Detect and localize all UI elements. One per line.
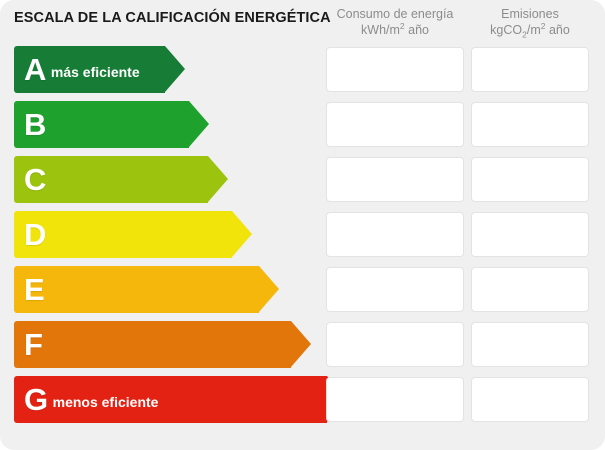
emisiones-value-box[interactable] (471, 47, 589, 92)
scale-header: ESCALA DE LA CALIFICACIÓN ENERGÉTICA Con… (0, 0, 605, 46)
consumo-value-box[interactable] (326, 157, 464, 202)
arrow-tip-icon (208, 156, 228, 202)
emisiones-unit-prefix: kgCO (490, 23, 522, 37)
rating-letter: B (14, 109, 46, 140)
rating-efficiency-note: menos eficiente (48, 389, 159, 410)
emisiones-value-box[interactable] (471, 377, 589, 422)
emisiones-value-box[interactable] (471, 102, 589, 147)
emisiones-value-box[interactable] (471, 267, 589, 312)
column-header-emisiones-line2: kgCO2/m2 año (470, 22, 590, 38)
rating-band-list: Amás eficienteBCDEFGmenos eficiente (0, 46, 605, 431)
rating-band-a[interactable]: Amás eficiente (14, 46, 165, 93)
arrow-tip-icon (291, 321, 311, 367)
rating-row: Gmenos eficiente (0, 376, 605, 423)
rating-letter: C (14, 164, 46, 195)
rating-letter: G (14, 384, 48, 415)
rating-band-g[interactable]: Gmenos eficiente (14, 376, 327, 423)
rating-row: D (0, 211, 605, 258)
rating-row: E (0, 266, 605, 313)
consumo-unit-suffix: año (405, 23, 429, 37)
consumo-value-box[interactable] (326, 212, 464, 257)
column-header-consumo: Consumo de energía kWh/m2 año (325, 6, 465, 38)
rating-row: B (0, 101, 605, 148)
column-header-consumo-line1: Consumo de energía (325, 6, 465, 22)
consumo-value-box[interactable] (326, 102, 464, 147)
consumo-value-box[interactable] (326, 322, 464, 367)
emisiones-value-box[interactable] (471, 322, 589, 367)
arrow-tip-icon (232, 211, 252, 257)
column-header-consumo-line2: kWh/m2 año (325, 22, 465, 38)
page-title: ESCALA DE LA CALIFICACIÓN ENERGÉTICA (14, 10, 331, 26)
consumo-value-box[interactable] (326, 267, 464, 312)
rating-band-b[interactable]: B (14, 101, 189, 148)
energy-rating-scale-card: ESCALA DE LA CALIFICACIÓN ENERGÉTICA Con… (0, 0, 605, 450)
emisiones-unit-mid: /m (527, 23, 541, 37)
rating-row: C (0, 156, 605, 203)
arrow-tip-icon (189, 101, 209, 147)
rating-efficiency-note: más eficiente (46, 59, 140, 80)
emisiones-value-box[interactable] (471, 157, 589, 202)
arrow-tip-icon (259, 266, 279, 312)
arrow-tip-icon (165, 46, 185, 92)
consumo-value-box[interactable] (326, 47, 464, 92)
emisiones-value-box[interactable] (471, 212, 589, 257)
consumo-value-box[interactable] (326, 377, 464, 422)
rating-band-e[interactable]: E (14, 266, 259, 313)
rating-letter: A (14, 54, 46, 85)
rating-row: F (0, 321, 605, 368)
rating-letter: D (14, 219, 46, 250)
rating-band-f[interactable]: F (14, 321, 291, 368)
rating-letter: F (14, 329, 42, 360)
rating-letter: E (14, 274, 44, 305)
column-header-emisiones-line1: Emisiones (470, 6, 590, 22)
column-header-emisiones: Emisiones kgCO2/m2 año (470, 6, 590, 38)
rating-band-d[interactable]: D (14, 211, 232, 258)
rating-row: Amás eficiente (0, 46, 605, 93)
consumo-unit-prefix: kWh/m (361, 23, 400, 37)
rating-band-c[interactable]: C (14, 156, 208, 203)
emisiones-unit-suffix: año (545, 23, 569, 37)
